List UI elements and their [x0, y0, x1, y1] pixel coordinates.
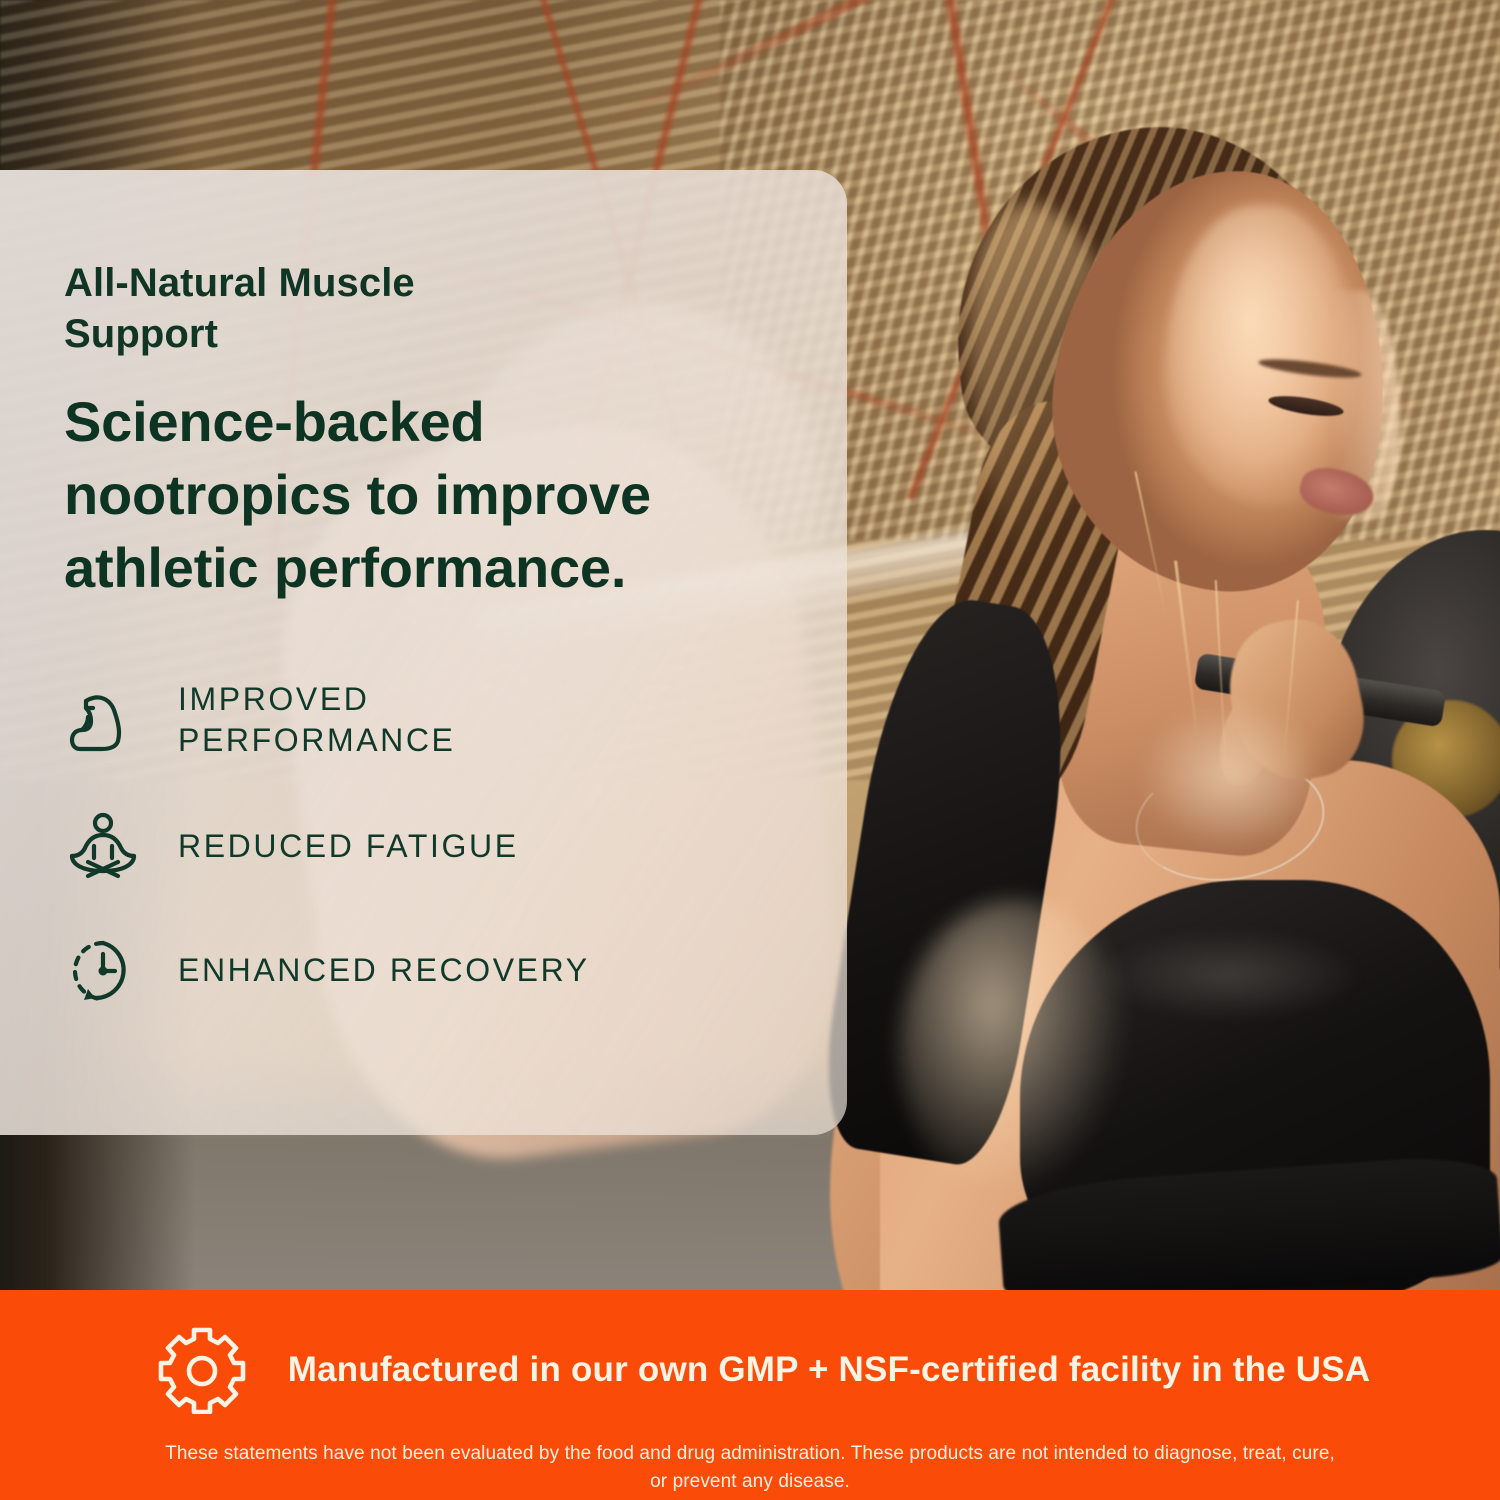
- promotional-poster: All-Natural Muscle Support Science-backe…: [0, 0, 1500, 1500]
- benefits-list: IMPROVED PERFORMANCE REDUC: [64, 679, 767, 1010]
- lotus-meditation-icon: [64, 808, 142, 886]
- benefit-item-reduced-fatigue: REDUCED FATIGUE: [64, 808, 767, 886]
- fda-disclaimer-text: These statements have not been evaluated…: [160, 1440, 1340, 1496]
- certification-footer: Manufactured in our own GMP + NSF-certif…: [0, 1290, 1500, 1500]
- athlete-face-light: [1165, 205, 1355, 505]
- benefit-label: REDUCED FATIGUE: [178, 826, 519, 868]
- footer-headline-row: Manufactured in our own GMP + NSF-certif…: [130, 1322, 1371, 1418]
- benefit-label: IMPROVED PERFORMANCE: [178, 679, 648, 762]
- benefit-item-enhanced-recovery: ENHANCED RECOVERY: [64, 932, 767, 1010]
- sports-bra-highlight: [1100, 930, 1360, 1020]
- skin-sheen-shoulder: [900, 900, 1130, 1200]
- skin-sheen-collarbone: [1140, 700, 1320, 850]
- flexed-bicep-icon: [64, 681, 142, 759]
- footer-headline-text: Manufactured in our own GMP + NSF-certif…: [288, 1350, 1371, 1390]
- page-title: Science-backed nootropics to improve ath…: [64, 386, 767, 604]
- clock-recovery-icon: [64, 932, 142, 1010]
- benefit-label: ENHANCED RECOVERY: [178, 950, 590, 992]
- eyebrow-text: All-Natural Muscle Support: [64, 258, 534, 360]
- content-card: All-Natural Muscle Support Science-backe…: [0, 170, 847, 1135]
- gear-icon: [156, 1322, 252, 1418]
- benefit-item-improved-performance: IMPROVED PERFORMANCE: [64, 679, 767, 762]
